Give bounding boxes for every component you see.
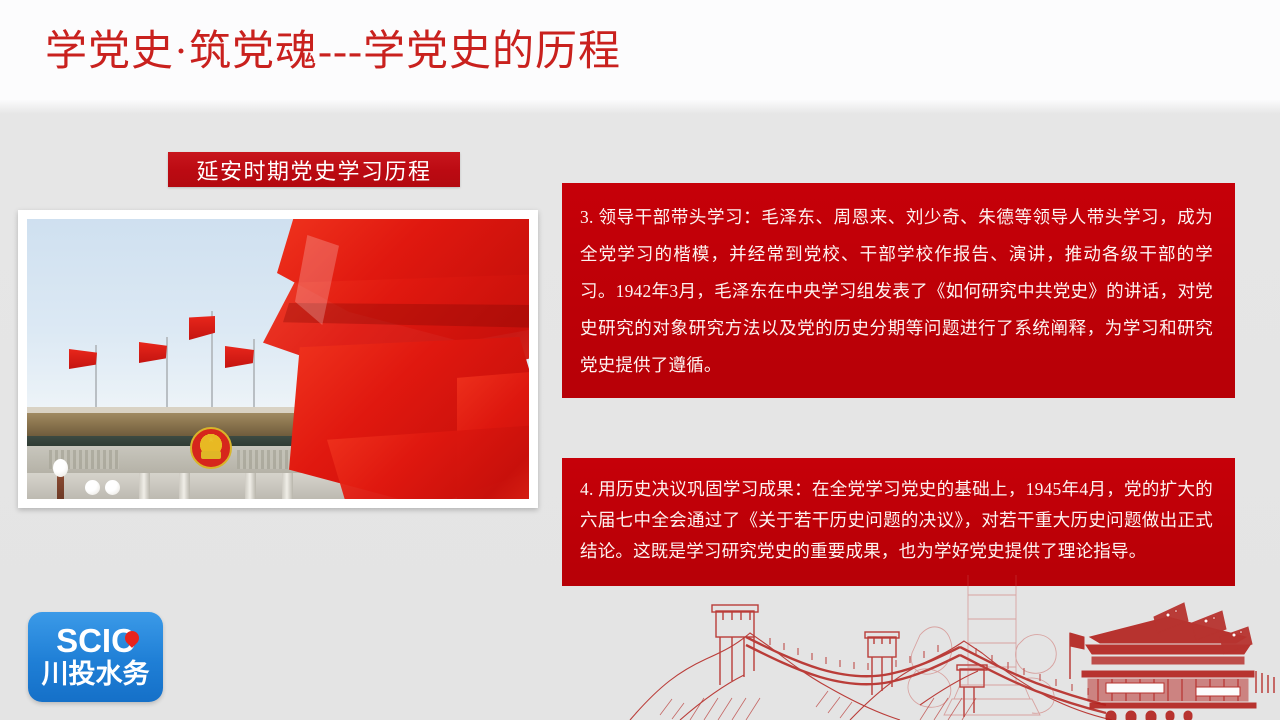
company-logo: SCIC 川投水务 (28, 612, 163, 702)
content-box-4: 4. 用历史决议巩固学习成果：在全党学习党史的基础上，1945年4月，党的扩大的… (562, 458, 1235, 586)
building-column (282, 473, 293, 499)
lamp-globe (105, 480, 120, 495)
logo-acronym: SCIC (56, 624, 135, 658)
flagpole (253, 339, 255, 407)
lamp-globe (53, 459, 68, 477)
logo-acronym-text: SCIC (56, 622, 135, 659)
logo-company-name: 川投水务 (42, 658, 150, 690)
page-title: 学党史·筑党魂---学党史的历程 (45, 24, 621, 80)
building-column (179, 473, 190, 499)
section-banner: 延安时期党史学习历程 (168, 152, 460, 187)
photo-frame (18, 210, 538, 508)
content-paragraph: 3. 领导干部带头学习：毛泽东、周恩来、刘少奇、朱德等领导人带头学习，成为全党学… (580, 199, 1213, 384)
national-emblem-icon (190, 427, 232, 469)
lamp-globe (85, 480, 100, 495)
lamp-post (57, 475, 64, 499)
small-flag (225, 346, 254, 368)
building-column (139, 473, 150, 499)
small-flag (139, 342, 167, 363)
photo-image (27, 219, 529, 499)
slide-canvas: 学党史·筑党魂---学党史的历程 延安时期党史学习历程 (0, 0, 1280, 720)
content-box-3: 3. 领导干部带头学习：毛泽东、周恩来、刘少奇、朱德等领导人带头学习，成为全党学… (562, 183, 1235, 398)
building-column (245, 473, 256, 499)
section-banner-label: 延安时期党史学习历程 (196, 154, 431, 186)
small-flag (69, 349, 97, 369)
content-paragraph: 4. 用历史决议巩固学习成果：在全党学习党史的基础上，1945年4月，党的扩大的… (580, 474, 1213, 567)
